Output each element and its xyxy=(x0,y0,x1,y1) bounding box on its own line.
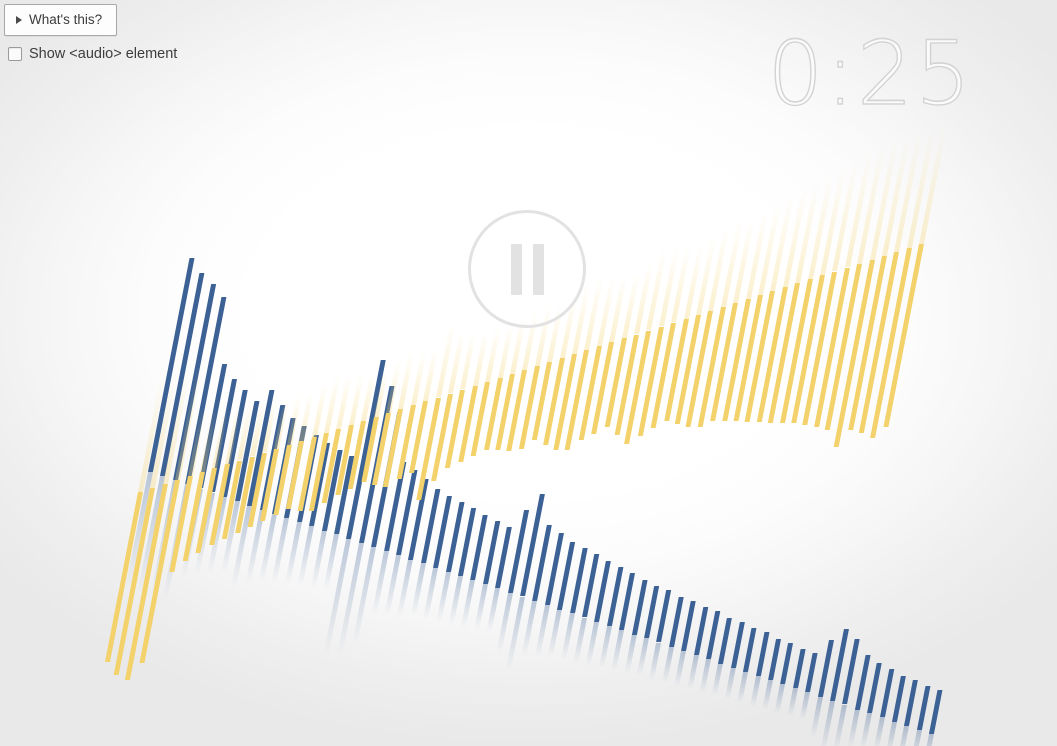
spectrum-bar-reflection xyxy=(672,651,686,697)
spectrum-bar xyxy=(148,258,195,472)
spectrum-bar-reflection xyxy=(446,576,463,638)
spectrum-bar-reflection xyxy=(190,493,215,597)
spectrum-bar-reflection xyxy=(255,514,277,602)
spectrum-bar xyxy=(855,655,871,710)
spectrum-bar xyxy=(209,464,230,545)
spectrum-bar xyxy=(140,480,181,663)
spectrum-bar-reflection xyxy=(336,361,354,429)
spectrum-bar-reflection xyxy=(710,663,723,705)
spectrum-bar xyxy=(421,489,440,563)
spectrum-bar-reflection xyxy=(584,258,607,350)
spectrum-bar-reflection xyxy=(485,314,503,382)
spectrum-bar xyxy=(396,405,415,479)
spectrum-bar-reflection xyxy=(609,258,630,342)
spectrum-bar xyxy=(383,409,403,487)
spectrum-bar xyxy=(793,649,806,688)
visualizer-stage: 0:25 What's this? Show <audio> element xyxy=(0,0,1057,746)
spectrum-bar xyxy=(470,515,488,580)
spectrum-bar xyxy=(532,362,552,440)
spectrum-bar-reflection xyxy=(324,361,343,433)
spectrum-bar xyxy=(929,690,942,734)
spectrum-bar-reflection xyxy=(188,388,210,476)
spectrum-bar-reflection xyxy=(795,155,825,283)
spectrum-bar-reflection xyxy=(473,316,492,386)
checkbox-unchecked-icon[interactable] xyxy=(8,47,22,61)
spectrum-bar xyxy=(507,370,528,451)
spectrum-bar xyxy=(615,335,639,435)
spectrum-bar-reflection xyxy=(287,381,304,445)
spectrum-bar xyxy=(409,401,428,473)
spectrum-bar xyxy=(471,382,490,456)
spectrum-bar-reflection xyxy=(909,730,922,746)
spectrum-bar-reflection xyxy=(347,547,376,671)
spectrum-bar xyxy=(656,590,671,642)
spectrum-bar xyxy=(669,597,684,647)
spectrum-bar-reflection xyxy=(807,697,822,746)
spectrum-bar-reflection xyxy=(227,505,253,611)
spectrum-bar xyxy=(235,401,259,501)
spectrum-bar xyxy=(694,607,708,655)
spectrum-bar xyxy=(731,622,745,668)
spectrum-bar-reflection xyxy=(368,551,389,633)
spectrum-bar-reflection xyxy=(317,539,351,689)
spectrum-bar xyxy=(416,398,441,500)
spectrum-bar xyxy=(780,643,793,684)
spectrum-bar xyxy=(619,573,635,630)
spectrum-bar-reflection xyxy=(733,195,759,303)
disclosure-triangle-right-icon xyxy=(16,16,22,24)
spectrum-bar-reflection xyxy=(493,593,513,669)
spectrum-bar xyxy=(484,378,503,450)
spectrum-bar-reflection xyxy=(268,518,289,602)
controls-panel: What's this? Show <audio> element xyxy=(0,0,177,62)
spectrum-bar xyxy=(334,456,354,534)
spectrum-bar-reflection xyxy=(433,572,450,636)
spectrum-bar xyxy=(322,450,343,531)
spectrum-bar-reflection xyxy=(647,643,661,691)
spectrum-bar xyxy=(791,275,825,423)
spectrum-bar xyxy=(557,542,575,610)
pause-icon-bar-left xyxy=(511,244,522,295)
spectrum-bar xyxy=(483,521,500,584)
spectrum-bar-reflection xyxy=(820,139,852,275)
show-audio-element-label: Show <audio> element xyxy=(29,46,177,62)
spectrum-bar-reflection xyxy=(659,226,683,326)
spectrum-bar-reflection xyxy=(684,225,707,319)
spectrum-bar xyxy=(297,435,319,522)
spectrum-bar xyxy=(579,346,602,440)
spectrum-bar-reflection xyxy=(746,187,773,299)
spectrum-bar xyxy=(210,379,237,492)
spectrum-bar-reflection xyxy=(832,131,864,271)
spectrum-bar xyxy=(594,561,611,622)
spectrum-bar xyxy=(803,272,838,425)
spectrum-bar-reflection xyxy=(394,559,413,633)
spectrum-bar-reflection xyxy=(175,330,209,480)
spectrum-bar-reflection xyxy=(471,584,487,642)
spectrum-bar xyxy=(904,680,918,726)
spectrum-bar-reflection xyxy=(217,501,240,593)
spectrum-bar xyxy=(433,496,452,568)
spectrum-bar-reflection xyxy=(773,684,785,722)
spectrum-bar xyxy=(446,502,465,572)
spectrum-bar xyxy=(570,548,588,613)
spectrum-bar-reflection xyxy=(597,260,619,346)
spectrum-bar-reflection xyxy=(896,726,909,746)
spectrum-bar-reflection xyxy=(331,543,364,687)
spectrum-bar xyxy=(884,244,925,427)
spectrum-bar-reflection xyxy=(138,342,172,492)
spectrum-bar-reflection xyxy=(685,655,699,699)
spectrum-bar-reflection xyxy=(448,313,469,393)
spectrum-bar-reflection xyxy=(484,588,500,644)
spectrum-bar-reflection xyxy=(870,110,904,260)
spectrum-bar-reflection xyxy=(882,106,916,256)
spectrum-bar xyxy=(272,418,296,514)
spectrum-bar xyxy=(644,586,659,638)
spectrum-bar-reflection xyxy=(735,672,748,712)
spectrum-bar xyxy=(114,488,155,675)
spectrum-bar-reflection xyxy=(156,484,190,634)
spectrum-bar-reflection xyxy=(783,163,812,287)
spectrum-bar-reflection xyxy=(858,713,872,746)
spectrum-bar-reflection xyxy=(721,197,747,307)
spectrum-bar-reflection xyxy=(770,171,798,291)
spectrum-bar xyxy=(604,338,626,427)
spectrum-bar xyxy=(235,457,255,533)
pause-icon-bar-right xyxy=(533,244,544,295)
spectrum-bar xyxy=(706,611,720,659)
spectrum-bar xyxy=(664,319,689,421)
spectrum-bar xyxy=(833,260,874,447)
spectrum-bar xyxy=(248,453,267,527)
spectrum-bar-reflection xyxy=(748,676,761,716)
spectrum-bar-reflection xyxy=(845,121,878,267)
spectrum-bar xyxy=(632,580,648,635)
spectrum-bar-reflection xyxy=(299,379,316,441)
spectrum-bar-reflection xyxy=(622,634,637,684)
spectrum-bar-reflection xyxy=(307,530,326,604)
spectrum-bar xyxy=(348,421,366,489)
spectrum-bar xyxy=(260,405,285,510)
spectrum-bar xyxy=(768,639,781,680)
spectrum-bar-reflection xyxy=(294,526,314,602)
spectrum-bar xyxy=(445,390,465,468)
spectrum-bar-reflection xyxy=(436,303,459,397)
spectrum-bar xyxy=(624,331,651,444)
spectrum-bar xyxy=(183,472,205,561)
spectrum-bar xyxy=(805,653,818,692)
spectrum-bar-reflection xyxy=(423,335,441,401)
spectrum-bar-reflection xyxy=(622,256,643,338)
spectrum-bar-reflection xyxy=(237,388,256,460)
spectrum-bar xyxy=(768,283,800,423)
spectrum-bar-reflection xyxy=(646,226,671,330)
spectrum-bar-reflection xyxy=(519,601,538,671)
spectrum-bar xyxy=(361,417,379,482)
spectrum-bar-reflection xyxy=(460,317,479,389)
spectrum-bar-reflection xyxy=(163,334,197,484)
spectrum-bar xyxy=(733,295,763,421)
spectrum-bar-reflection xyxy=(225,390,244,464)
spectrum-bar xyxy=(917,686,930,730)
spectrum-bar-reflection xyxy=(459,580,476,640)
spectrum-bar-reflection xyxy=(420,568,438,634)
spectrum-bar-reflection xyxy=(808,147,839,279)
spectrum-bar-reflection xyxy=(262,384,280,452)
spectrum-bar xyxy=(756,632,769,676)
spectrum-bar xyxy=(309,433,329,511)
spectrum-bar xyxy=(582,554,599,617)
spectrum-bar-reflection xyxy=(845,709,860,746)
spectrum-bar-reflection xyxy=(320,534,339,606)
spectrum-bar xyxy=(519,366,540,449)
spectrum-bar-reflection xyxy=(349,361,366,425)
spectrum-bar-reflection xyxy=(696,215,720,315)
spectrum-bar xyxy=(780,279,813,423)
spectrum-bar xyxy=(160,273,204,476)
spectrum-bar-reflection xyxy=(250,386,269,456)
whats-this-label: What's this? xyxy=(29,12,102,27)
spectrum-bar xyxy=(814,268,850,427)
spectrum-bar xyxy=(431,394,453,481)
spectrum-bar-reflection xyxy=(312,369,330,437)
spectrum-bar-reflection xyxy=(723,667,736,709)
spectrum-bar-reflection xyxy=(921,734,934,746)
spectrum-bar xyxy=(222,461,242,539)
spectrum-bar-reflection xyxy=(558,613,575,673)
spectrum-bar xyxy=(686,311,713,427)
spectrum-bar xyxy=(607,567,623,626)
spectrum-bar-reflection xyxy=(144,480,178,630)
spectrum-bar xyxy=(697,307,725,427)
spectrum-bar xyxy=(173,284,216,480)
spectrum-bar-reflection xyxy=(281,522,302,602)
spectrum-bar xyxy=(591,342,614,434)
spectrum-bar xyxy=(651,323,676,428)
spectrum-bar-reflection xyxy=(831,705,848,746)
spectrum-bar xyxy=(553,354,577,450)
spectrum-bar xyxy=(743,628,756,672)
elapsed-time-display: 0:25 xyxy=(767,30,973,118)
spectrum-bar xyxy=(681,601,696,651)
spectrum-bar xyxy=(818,640,834,697)
spectrum-bar xyxy=(346,360,386,539)
spectrum-bar xyxy=(297,437,316,511)
spectrum-bar xyxy=(372,413,391,485)
spectrum-bar xyxy=(675,315,701,424)
spectrum-bar-reflection xyxy=(634,242,657,334)
spectrum-bar xyxy=(105,492,143,662)
spectrum-bar-reflection xyxy=(660,647,674,693)
spectrum-bar xyxy=(458,386,478,462)
spectrum-bar-reflection xyxy=(361,359,378,421)
spectrum-bar xyxy=(532,525,552,601)
spectrum-bar-reflection xyxy=(203,497,227,595)
spectrum-bar xyxy=(565,350,589,450)
spectrum-bar-reflection xyxy=(502,597,525,691)
spectrum-bar xyxy=(125,484,168,680)
spectrum-bar-reflection xyxy=(545,609,562,671)
spectrum-bar-reflection xyxy=(175,489,202,603)
spectrum-bar-reflection xyxy=(758,179,786,295)
spectrum-bar-reflection xyxy=(411,337,429,405)
spectrum-bar xyxy=(859,252,899,433)
spectrum-bar-reflection xyxy=(150,338,184,488)
spectrum-bar xyxy=(396,470,418,555)
spectrum-bar xyxy=(458,508,476,576)
spectrum-bar xyxy=(545,533,564,605)
spectrum-bar-reflection xyxy=(200,390,221,472)
spectrum-bar-reflection xyxy=(241,509,265,605)
spectrum-bar xyxy=(185,297,226,484)
spectrum-bar xyxy=(757,287,788,422)
spectrum-bar-reflection xyxy=(786,688,798,724)
spectrum-bar-reflection xyxy=(408,563,426,631)
spectrum-bar xyxy=(322,429,341,503)
spectrum-bar-reflection xyxy=(857,114,891,264)
spectrum-bar xyxy=(543,358,565,445)
spectrum-bar xyxy=(508,510,529,593)
spectrum-bar xyxy=(867,663,882,713)
spectrum-bar xyxy=(222,390,248,497)
spectrum-bar xyxy=(284,426,307,518)
spectrum-bar-reflection xyxy=(708,205,734,311)
spectrum-bar-reflection xyxy=(398,337,417,409)
spectrum-bar-reflection xyxy=(374,357,391,417)
spectrum-bar-reflection xyxy=(635,638,649,686)
spectrum-bar xyxy=(247,390,274,506)
spectrum-bar-reflection xyxy=(274,383,292,449)
spectrum-bar xyxy=(842,639,860,704)
spectrum-bar xyxy=(371,412,402,547)
spectrum-bar xyxy=(520,494,545,596)
spectrum-bar-reflection xyxy=(671,226,695,322)
spectrum-bar xyxy=(745,291,775,422)
spectrum-bar xyxy=(260,449,279,521)
spectrum-bar xyxy=(408,479,429,560)
spectrum-bar xyxy=(273,445,292,515)
spectrum-bar xyxy=(718,618,732,664)
spectrum-bar xyxy=(638,327,664,436)
spectrum-bar xyxy=(309,443,330,526)
spectrum-bar-reflection xyxy=(571,618,587,676)
spectrum-bar xyxy=(710,303,738,421)
spectrum-bar xyxy=(495,374,515,450)
spectrum-bar xyxy=(384,462,406,551)
spectrum-bar xyxy=(830,629,849,701)
spectrum-bar xyxy=(169,476,193,572)
spectrum-bar xyxy=(848,256,887,430)
spectrum-bar-reflection xyxy=(212,390,232,468)
spectrum-bar-reflection xyxy=(119,472,153,622)
spectrum-bar-reflection xyxy=(386,347,404,413)
spectrum-bar-reflection xyxy=(798,692,810,728)
spectrum-bar-reflection xyxy=(609,630,624,682)
spectrum-bar-reflection xyxy=(817,701,835,746)
spectrum-bar-reflection xyxy=(871,717,885,746)
play-pause-button[interactable] xyxy=(468,210,586,328)
spectrum-bar-reflection xyxy=(596,626,612,680)
whats-this-button[interactable]: What's this? xyxy=(4,4,117,36)
spectrum-bar xyxy=(870,248,912,438)
spectrum-bar xyxy=(196,468,218,553)
spectrum-bar-reflection xyxy=(131,476,165,626)
spectrum-bar xyxy=(825,264,862,430)
spectrum-bar xyxy=(495,527,512,588)
spectrum-bar xyxy=(722,299,751,421)
spectrum-bar xyxy=(892,676,906,722)
show-audio-element-row[interactable]: Show <audio> element xyxy=(8,46,177,62)
spectrum-bar xyxy=(335,425,354,495)
spectrum-bar-reflection xyxy=(761,680,773,718)
spectrum-bar xyxy=(198,364,227,488)
spectrum-bar-reflection xyxy=(381,555,401,633)
spectrum-bar xyxy=(880,669,894,717)
spectrum-bar xyxy=(359,386,395,543)
spectrum-bar-reflection xyxy=(583,622,599,678)
spectrum-bar-reflection xyxy=(532,605,550,671)
spectrum-bar-reflection xyxy=(697,659,711,703)
spectrum-bar xyxy=(286,441,304,509)
spectrum-bar-reflection xyxy=(884,722,897,746)
